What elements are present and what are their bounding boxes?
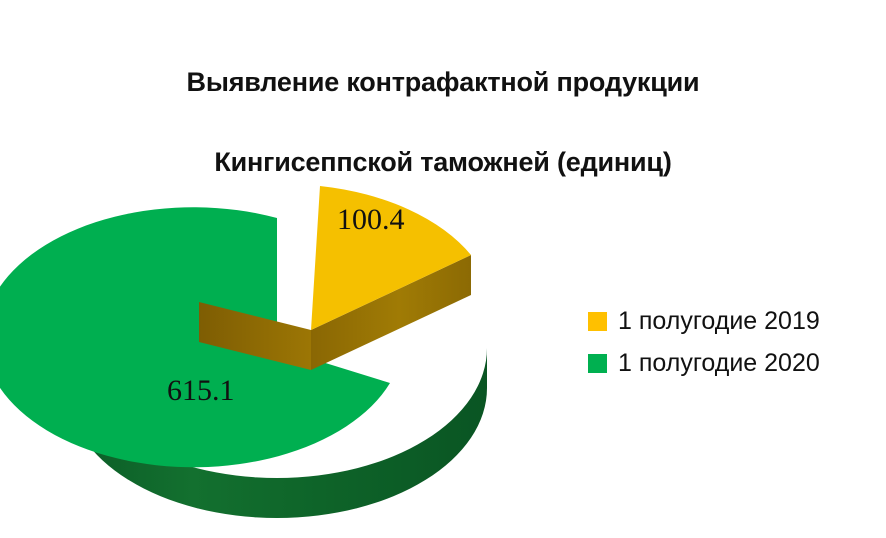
legend-item-2019[interactable]: 1 полугодие 2019 — [588, 300, 868, 342]
legend-item-label: 1 полугодие 2020 — [618, 349, 820, 377]
legend-item-2020[interactable]: 1 полугодие 2020 — [588, 342, 868, 384]
pie-chart-figure: Выявление контрафактной продукции Кингис… — [0, 0, 886, 538]
legend-item-label: 1 полугодие 2019 — [618, 307, 820, 335]
legend-color-swatch-icon — [588, 354, 607, 373]
pie-explode-gap-shape — [279, 216, 310, 328]
chart-legend: 1 полугодие 2019 1 полугодие 2020 — [588, 300, 868, 384]
pie-svg — [0, 130, 560, 530]
pie-plot-area — [0, 130, 560, 530]
chart-title-line-1: Выявление контрафактной продукции — [0, 62, 886, 102]
pie-explode-gap — [279, 216, 310, 328]
legend-color-swatch-icon — [588, 312, 607, 331]
